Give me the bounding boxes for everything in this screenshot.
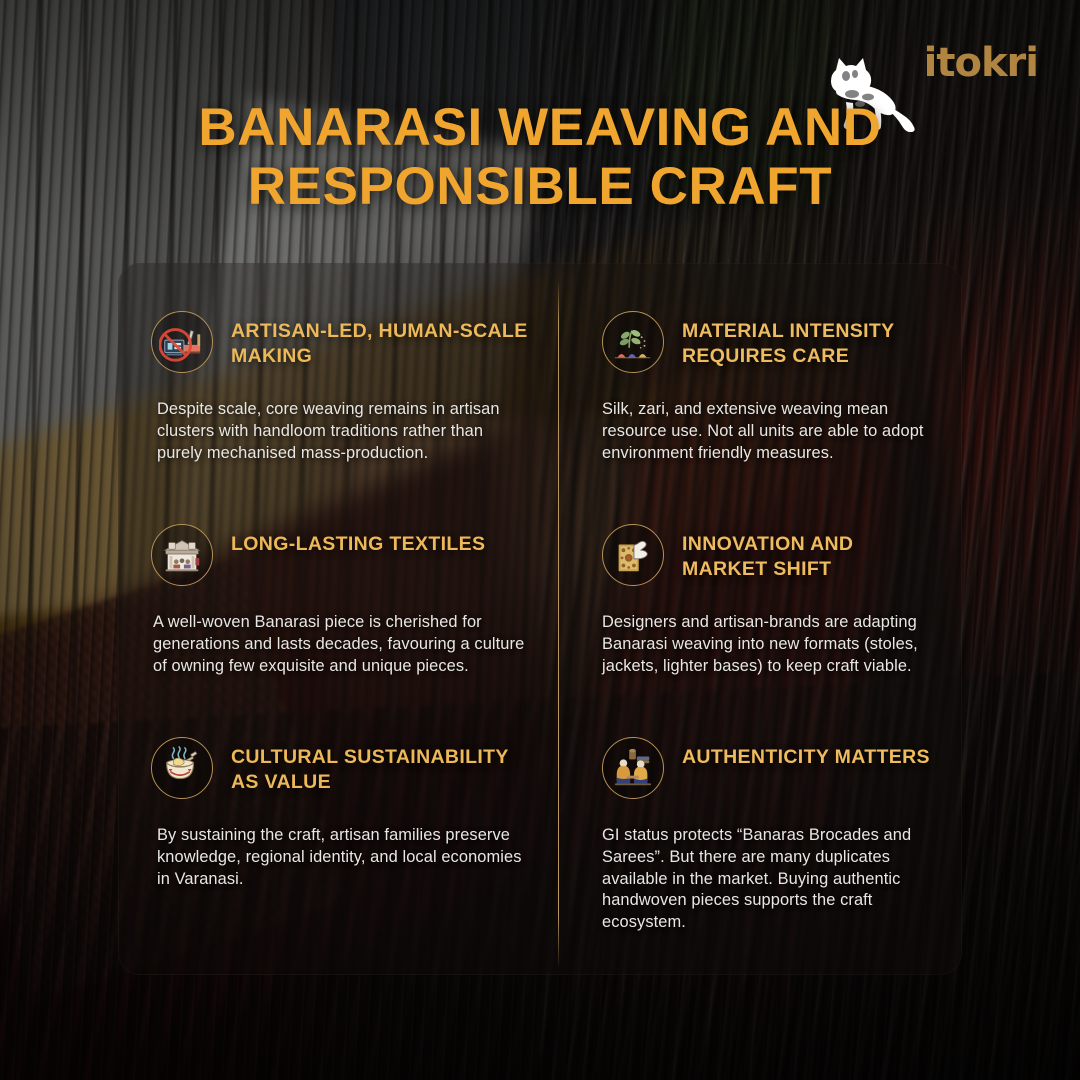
content-panel: ARTISAN-LED, HUMAN-SCALE MAKING Despite … [118,263,962,975]
card-body: Designers and artisan-brands are adaptin… [602,612,941,677]
header: itokri BANARASI WEAVING AND RESPONSIBLE … [0,0,1080,250]
card-authenticity-matters: AUTHENTICITY MATTERS GI status protects … [558,690,963,930]
card-header: AUTHENTICITY MATTERS [602,737,941,799]
card-body: By sustaining the craft, artisan familie… [151,825,528,890]
card-header: ARTISAN-LED, HUMAN-SCALE MAKING [151,311,528,373]
steaming-dye-pot-icon [151,737,213,799]
card-header: CULTURAL SUSTAINABILITY AS VALUE [151,737,528,799]
brand-logo[interactable]: itokri [924,40,1038,86]
card-header: MATERIAL INTENSITY REQUIRES CARE [602,311,941,373]
card-title: CULTURAL SUSTAINABILITY AS VALUE [231,737,528,794]
no-machine-loom-icon [151,311,213,373]
page-title: BANARASI WEAVING AND RESPONSIBLE CRAFT [0,98,1080,217]
card-material-intensity: MATERIAL INTENSITY REQUIRES CARE Silk, z… [558,264,963,477]
card-innovation-market-shift: INNOVATION AND MARKET SHIFT Designers an… [558,477,963,690]
page-title-line-2: RESPONSIBLE CRAFT [120,157,960,216]
card-header: INNOVATION AND MARKET SHIFT [602,524,941,586]
page-title-line-1: BANARASI WEAVING AND [198,98,881,157]
plant-dye-powders-icon [602,311,664,373]
card-title: AUTHENTICITY MATTERS [682,737,930,770]
card-title: MATERIAL INTENSITY REQUIRES CARE [682,311,941,368]
traditional-shop-icon [151,524,213,586]
card-cultural-sustainability: CULTURAL SUSTAINABILITY AS VALUE By sust… [119,690,558,930]
card-body: A well-woven Banarasi piece is cherished… [151,612,528,677]
hand-holding-fabric-swatch-icon [602,524,664,586]
card-body: Silk, zari, and extensive weaving mean r… [602,399,941,464]
card-header: LONG-LASTING TEXTILES [151,524,528,586]
card-title: INNOVATION AND MARKET SHIFT [682,524,941,581]
card-grid: ARTISAN-LED, HUMAN-SCALE MAKING Despite … [119,264,961,974]
card-title: LONG-LASTING TEXTILES [231,524,485,557]
card-title: ARTISAN-LED, HUMAN-SCALE MAKING [231,311,528,368]
card-long-lasting-textiles: LONG-LASTING TEXTILES A well-woven Banar… [119,477,558,690]
card-body: GI status protects “Banaras Brocades and… [602,825,941,934]
card-body: Despite scale, core weaving remains in a… [151,399,528,464]
two-seated-artisans-icon [602,737,664,799]
card-artisan-led: ARTISAN-LED, HUMAN-SCALE MAKING Despite … [119,264,558,477]
